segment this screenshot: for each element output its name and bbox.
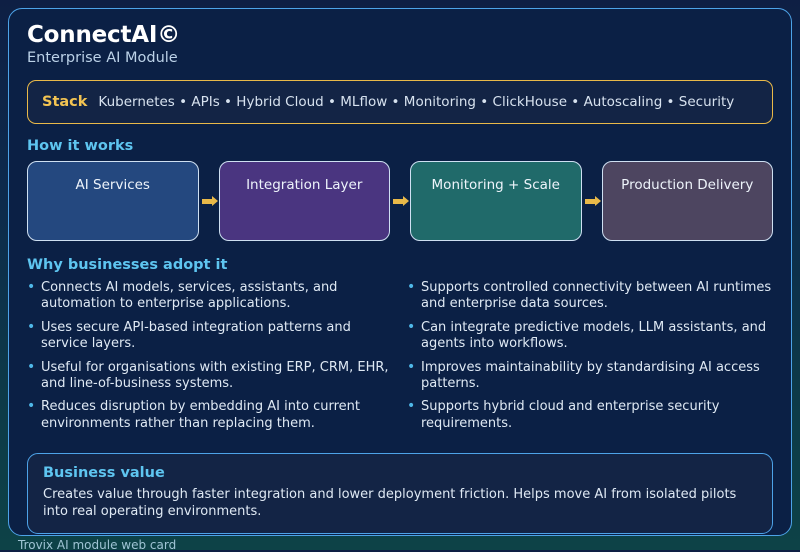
- flow-step-ai-services[interactable]: AI Services: [27, 161, 199, 241]
- list-item: Reduces disruption by embedding AI into …: [27, 399, 393, 432]
- stack-items: Kubernetes • APIs • Hybrid Cloud • MLflo…: [98, 94, 734, 110]
- how-it-works-flow: AI Services Integration Layer Monitoring…: [27, 161, 773, 241]
- why-adopt-right-column: Supports controlled connectivity between…: [407, 280, 773, 439]
- business-value-text: Creates value through faster integration…: [43, 487, 757, 521]
- flow-step-label: Integration Layer: [246, 177, 362, 193]
- flow-step-label: Monitoring + Scale: [432, 177, 560, 193]
- list-item: Uses secure API-based integration patter…: [27, 320, 393, 353]
- why-adopt-columns: Connects AI models, services, assistants…: [27, 280, 773, 439]
- web-card-page: ConnectAI© Enterprise AI Module Stack Ku…: [0, 0, 800, 550]
- why-adopt-heading: Why businesses adopt it: [27, 257, 773, 273]
- list-item: Can integrate predictive models, LLM ass…: [407, 320, 773, 353]
- list-item: Improves maintainability by standardisin…: [407, 360, 773, 393]
- stack-label: Stack: [42, 94, 87, 110]
- flow-step-label: AI Services: [76, 177, 150, 193]
- flow-step-label: Production Delivery: [621, 177, 753, 193]
- stack-bar: Stack Kubernetes • APIs • Hybrid Cloud •…: [27, 80, 773, 124]
- why-adopt-left-column: Connects AI models, services, assistants…: [27, 280, 393, 439]
- benefit-list-right: Supports controlled connectivity between…: [407, 280, 773, 432]
- flow-step-monitoring-scale[interactable]: Monitoring + Scale: [410, 161, 582, 241]
- page-subtitle: Enterprise AI Module: [27, 51, 773, 67]
- page-title: ConnectAI©: [27, 23, 773, 47]
- list-item: Supports controlled connectivity between…: [407, 280, 773, 313]
- module-card: ConnectAI© Enterprise AI Module Stack Ku…: [8, 8, 792, 536]
- business-value-title: Business value: [43, 465, 757, 481]
- how-it-works-heading: How it works: [27, 138, 773, 154]
- benefit-list-left: Connects AI models, services, assistants…: [27, 280, 393, 432]
- flow-arrow-icon-2: [390, 161, 410, 241]
- list-item: Useful for organisations with existing E…: [27, 360, 393, 393]
- flow-step-production-delivery[interactable]: Production Delivery: [602, 161, 774, 241]
- flow-arrow-icon-1: [199, 161, 219, 241]
- flow-step-integration-layer[interactable]: Integration Layer: [219, 161, 391, 241]
- list-item: Supports hybrid cloud and enterprise sec…: [407, 399, 773, 432]
- business-value-box: Business value Creates value through fas…: [27, 453, 773, 534]
- list-item: Connects AI models, services, assistants…: [27, 280, 393, 313]
- flow-arrow-icon-3: [582, 161, 602, 241]
